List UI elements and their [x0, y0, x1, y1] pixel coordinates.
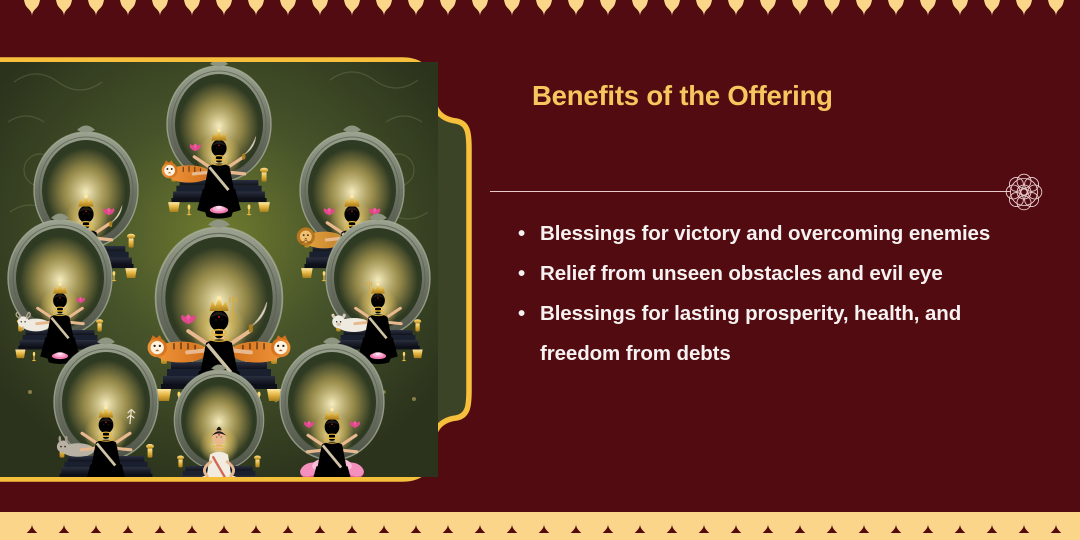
benefit-item-2: • Relief from unseen obstacles and evil … — [512, 254, 1032, 294]
deity-row3-right — [326, 214, 430, 365]
scalloped-arch-border-top-svg — [0, 0, 1080, 28]
navadurga-artwork-svg: .g1 .robe { fill:#b5192b; } .g1 .skirt {… — [0, 62, 438, 477]
benefit-item-3: • Blessings for lasting prosperity, heal… — [512, 294, 1032, 374]
bullet-marker: • — [518, 254, 525, 294]
page-title: Benefits of the Offering — [532, 80, 833, 112]
benefit-item-1: • Blessings for victory and overcoming e… — [512, 214, 1032, 254]
navadurga-artwork: .g1 .robe { fill:#b5192b; } .g1 .skirt {… — [0, 62, 438, 477]
rosette-mandala-icon — [1002, 170, 1046, 214]
benefit-text: Blessings for victory and overcoming ene… — [540, 222, 990, 245]
content-column: Benefits of the Offering — [490, 57, 1050, 482]
deity-row3-left — [8, 214, 112, 365]
top-decorative-border — [0, 0, 1080, 28]
slide-root: .g1 .robe { fill:#b5192b; } .g1 .skirt {… — [0, 0, 1080, 540]
title-divider-row — [490, 170, 1050, 214]
artwork-panel: .g1 .robe { fill:#b5192b; } .g1 .skirt {… — [0, 57, 472, 482]
divider-line — [490, 191, 1011, 192]
bullet-marker: • — [518, 294, 525, 334]
bottom-decorative-border — [0, 512, 1080, 540]
benefits-list: • Blessings for victory and overcoming e… — [512, 214, 1032, 374]
benefit-text: Relief from unseen obstacles and evil ey… — [540, 262, 943, 285]
benefit-text: Blessings for lasting prosperity, health… — [540, 302, 961, 365]
scalloped-arch-border-bottom-svg — [0, 512, 1080, 540]
bullet-marker: • — [518, 214, 525, 254]
